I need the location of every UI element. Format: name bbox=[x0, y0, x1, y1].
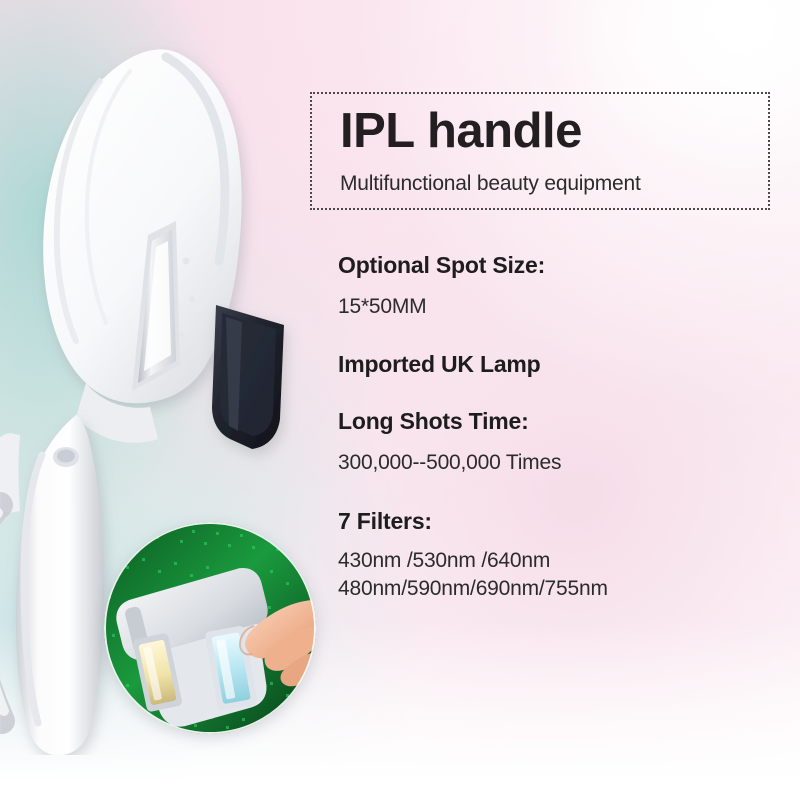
spec-value-filters-line2: 480nm/590nm/690nm/755nm bbox=[338, 575, 788, 603]
spec-value-filters-line1: 430nm /530nm /640nm bbox=[338, 547, 788, 575]
spec-value-shots-time: 300,000--500,000 Times bbox=[338, 449, 788, 477]
spec-label-shots-time: Long Shots Time: bbox=[338, 408, 788, 435]
spec-label-uk-lamp: Imported UK Lamp bbox=[338, 351, 788, 378]
treatment-demo-photo bbox=[104, 522, 316, 734]
spec-label-filters: 7 Filters: bbox=[338, 508, 788, 535]
page-title: IPL handle bbox=[340, 106, 582, 157]
product-poster: IPL handle Multifunctional beauty equipm… bbox=[0, 0, 800, 800]
spec-label-spot-size: Optional Spot Size: bbox=[338, 252, 788, 279]
spec-list: Optional Spot Size: 15*50MM Imported UK … bbox=[338, 252, 788, 603]
page-subtitle: Multifunctional beauty equipment bbox=[340, 172, 641, 196]
spec-value-spot-size: 15*50MM bbox=[338, 293, 788, 321]
